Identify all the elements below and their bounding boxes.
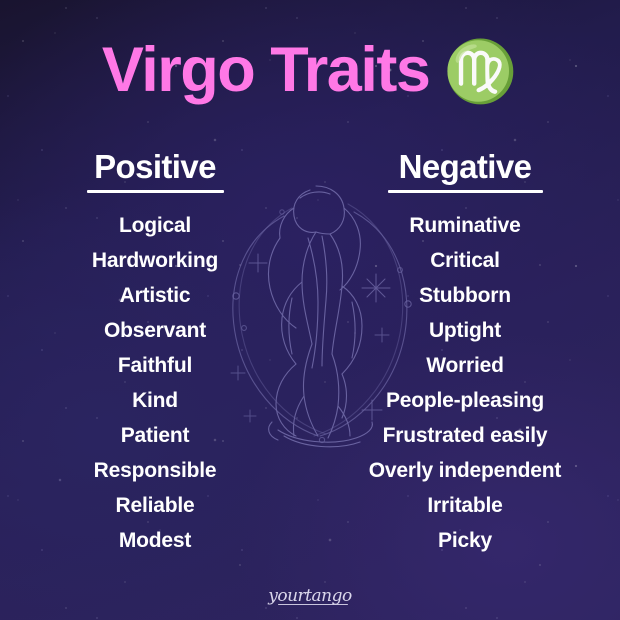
list-item: People-pleasing	[310, 383, 620, 418]
positive-trait-list: Logical Hardworking Artistic Observant F…	[0, 208, 310, 558]
list-item: Uptight	[310, 313, 620, 348]
list-item: Responsible	[0, 453, 310, 488]
positive-heading-underline	[87, 190, 224, 193]
list-item: Faithful	[0, 348, 310, 383]
negative-trait-list: Ruminative Critical Stubborn Uptight Wor…	[310, 208, 620, 558]
list-item: Picky	[310, 523, 620, 558]
list-item: Reliable	[0, 488, 310, 523]
list-item: Frustrated easily	[310, 418, 620, 453]
footer-logo: yourtango	[0, 586, 620, 606]
list-item: Worried	[310, 348, 620, 383]
positive-column-heading: Positive	[94, 150, 216, 183]
list-item: Artistic	[0, 278, 310, 313]
list-item: Hardworking	[0, 243, 310, 278]
negative-traits-column: Negative Ruminative Critical Stubborn Up…	[310, 150, 620, 558]
list-item: Ruminative	[310, 208, 620, 243]
list-item: Patient	[0, 418, 310, 453]
virgo-glyph-icon: ♍	[443, 42, 518, 102]
traits-columns: Positive Logical Hardworking Artistic Ob…	[0, 150, 620, 558]
list-item: Overly independent	[310, 453, 620, 488]
negative-column-heading: Negative	[399, 150, 532, 183]
negative-heading-underline	[388, 190, 543, 193]
poster-title-row: Virgo Traits ♍	[0, 28, 620, 112]
list-item: Irritable	[310, 488, 620, 523]
yourtango-logo-text: yourtango	[268, 586, 351, 606]
page-title: Virgo Traits	[102, 39, 429, 102]
list-item: Modest	[0, 523, 310, 558]
virgo-traits-poster: Virgo Traits ♍ Positive Logical Hardwork…	[0, 0, 620, 620]
list-item: Observant	[0, 313, 310, 348]
list-item: Stubborn	[310, 278, 620, 313]
list-item: Logical	[0, 208, 310, 243]
positive-traits-column: Positive Logical Hardworking Artistic Ob…	[0, 150, 310, 558]
list-item: Critical	[310, 243, 620, 278]
list-item: Kind	[0, 383, 310, 418]
